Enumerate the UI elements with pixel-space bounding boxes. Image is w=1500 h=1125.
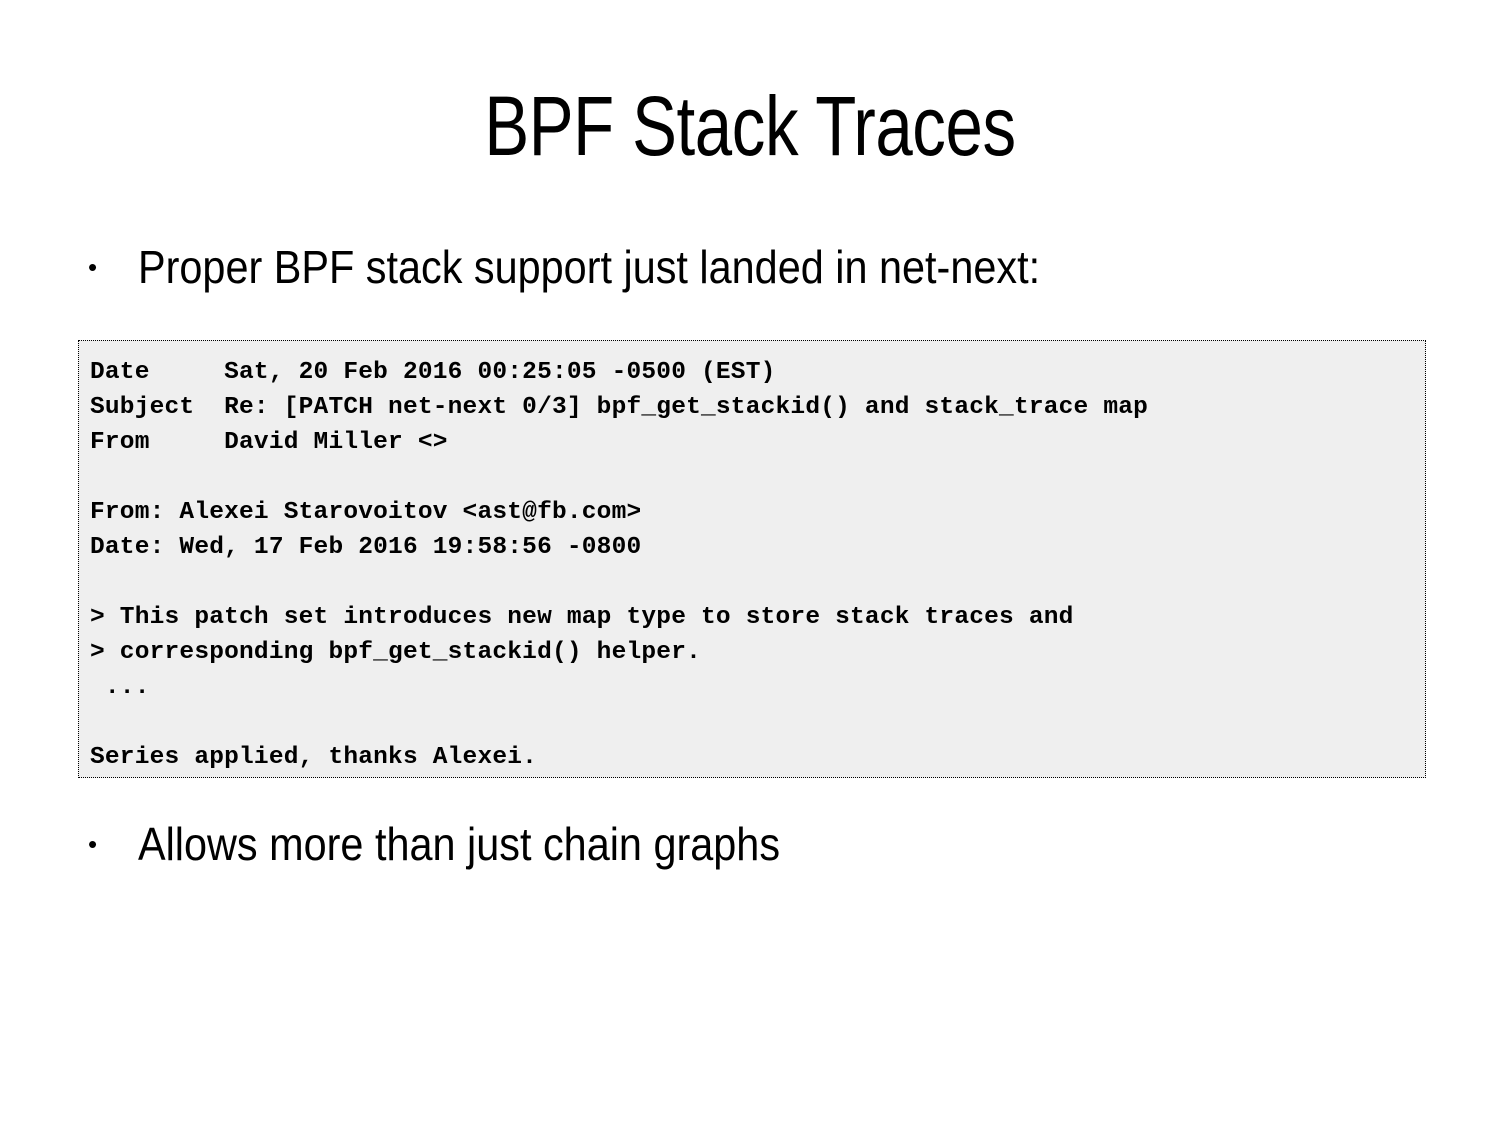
bullet-text-2: Allows more than just chain graphs [138, 815, 780, 873]
page-title: BPF Stack Traces [150, 78, 1350, 174]
code-line-blank [90, 460, 1415, 495]
code-line: Series applied, thanks Alexei. [90, 740, 1415, 775]
code-line: Subject Re: [PATCH net-next 0/3] bpf_get… [90, 390, 1415, 425]
code-line: ... [90, 670, 1415, 705]
bullet-item-2: • Allows more than just chain graphs [88, 815, 851, 873]
code-line: Date: Wed, 17 Feb 2016 19:58:56 -0800 [90, 530, 1415, 565]
email-quote-block: Date Sat, 20 Feb 2016 00:25:05 -0500 (ES… [78, 340, 1426, 778]
bullet-marker-icon: • [88, 238, 138, 296]
code-line: From: Alexei Starovoitov <ast@fb.com> [90, 495, 1415, 530]
slide: BPF Stack Traces • Proper BPF stack supp… [0, 0, 1500, 1125]
code-line: From David Miller <> [90, 425, 1415, 460]
code-line: > This patch set introduces new map type… [90, 600, 1415, 635]
code-line: Date Sat, 20 Feb 2016 00:25:05 -0500 (ES… [90, 355, 1415, 390]
code-line: > corresponding bpf_get_stackid() helper… [90, 635, 1415, 670]
code-line-blank [90, 705, 1415, 740]
bullet-marker-icon: • [88, 815, 138, 873]
bullet-text-1: Proper BPF stack support just landed in … [138, 238, 1040, 296]
code-line-blank [90, 565, 1415, 600]
bullet-item-1: • Proper BPF stack support just landed i… [88, 238, 1140, 296]
